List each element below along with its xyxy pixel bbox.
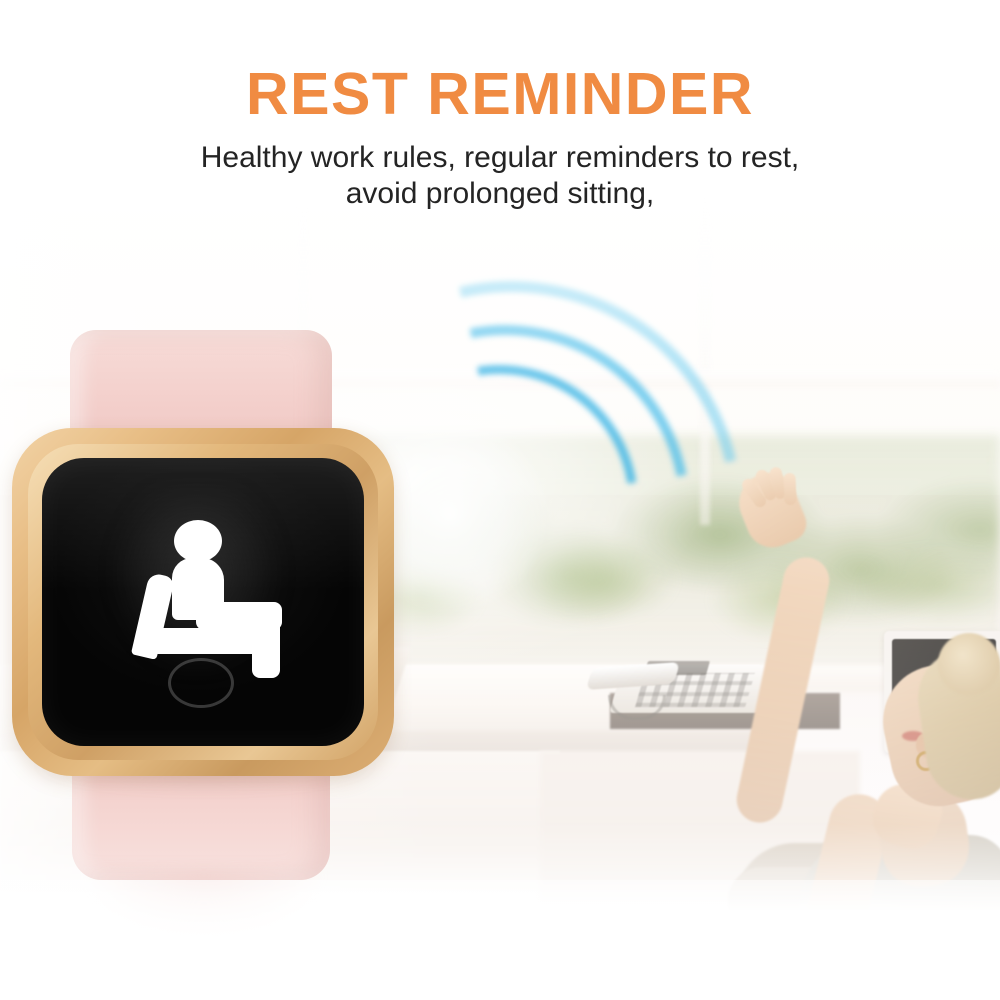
window-mullion-right bbox=[700, 195, 710, 525]
subtitle-line-1: Healthy work rules, regular reminders to… bbox=[201, 141, 800, 174]
watch-floor-reflection bbox=[86, 870, 322, 940]
header: REST REMINDER Healthy work rules, regula… bbox=[0, 0, 1000, 212]
woman-finger bbox=[783, 473, 796, 505]
page-subtitle: Healthy work rules, regular reminders to… bbox=[0, 140, 1000, 212]
sitting-person-head bbox=[174, 520, 222, 562]
product-banner: REST REMINDER Healthy work rules, regula… bbox=[0, 0, 1000, 1000]
home-button-icon[interactable] bbox=[168, 658, 234, 708]
woman-hair-bun bbox=[938, 633, 1000, 695]
smartwatch bbox=[0, 310, 420, 910]
page-title: REST REMINDER bbox=[0, 65, 1000, 124]
sitting-person-icon bbox=[134, 520, 294, 670]
watch-screen[interactable] bbox=[42, 458, 364, 746]
sitting-person-shin bbox=[252, 606, 280, 678]
sitting-person-seat bbox=[152, 628, 260, 654]
subtitle-line-2: avoid prolonged sitting, bbox=[0, 176, 1000, 212]
